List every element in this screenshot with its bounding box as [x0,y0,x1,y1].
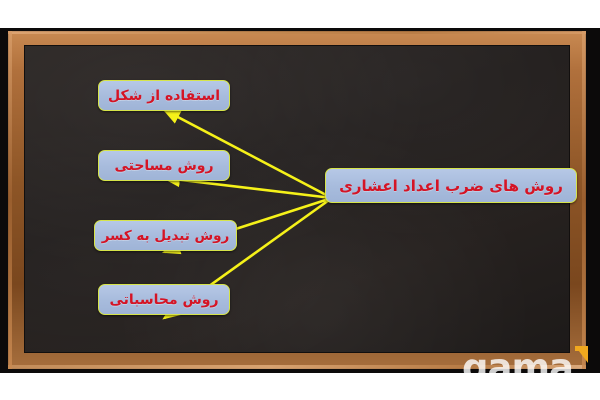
branch-node-shape-method[interactable]: استفاده از شکل [98,80,230,111]
branch-node-label: استفاده از شکل [108,88,220,104]
branch-node-label: روش تبدیل به کسر [102,228,230,244]
frame-bevel-bottom [8,365,586,369]
branch-node-label: روش مساحتی [114,158,213,174]
frame-bevel-top [8,31,586,34]
screenshot-root: استفاده از شکل روش مساحتی روش تبدیل به ک… [0,0,600,400]
branch-node-computational-method[interactable]: روش محاسباتی [98,284,230,315]
frame-bevel-right [582,31,586,369]
root-node-label: روش های ضرب اعداد اعشاری [339,177,563,195]
branch-node-area-method[interactable]: روش مساحتی [98,150,230,181]
connector-to-area-method [164,178,331,198]
frame-bevel-left [8,31,12,369]
root-node[interactable]: روش های ضرب اعداد اعشاری [325,168,577,203]
branch-node-fraction-method[interactable]: روش تبدیل به کسر [94,220,237,251]
branch-node-label: روش محاسباتی [109,292,218,308]
